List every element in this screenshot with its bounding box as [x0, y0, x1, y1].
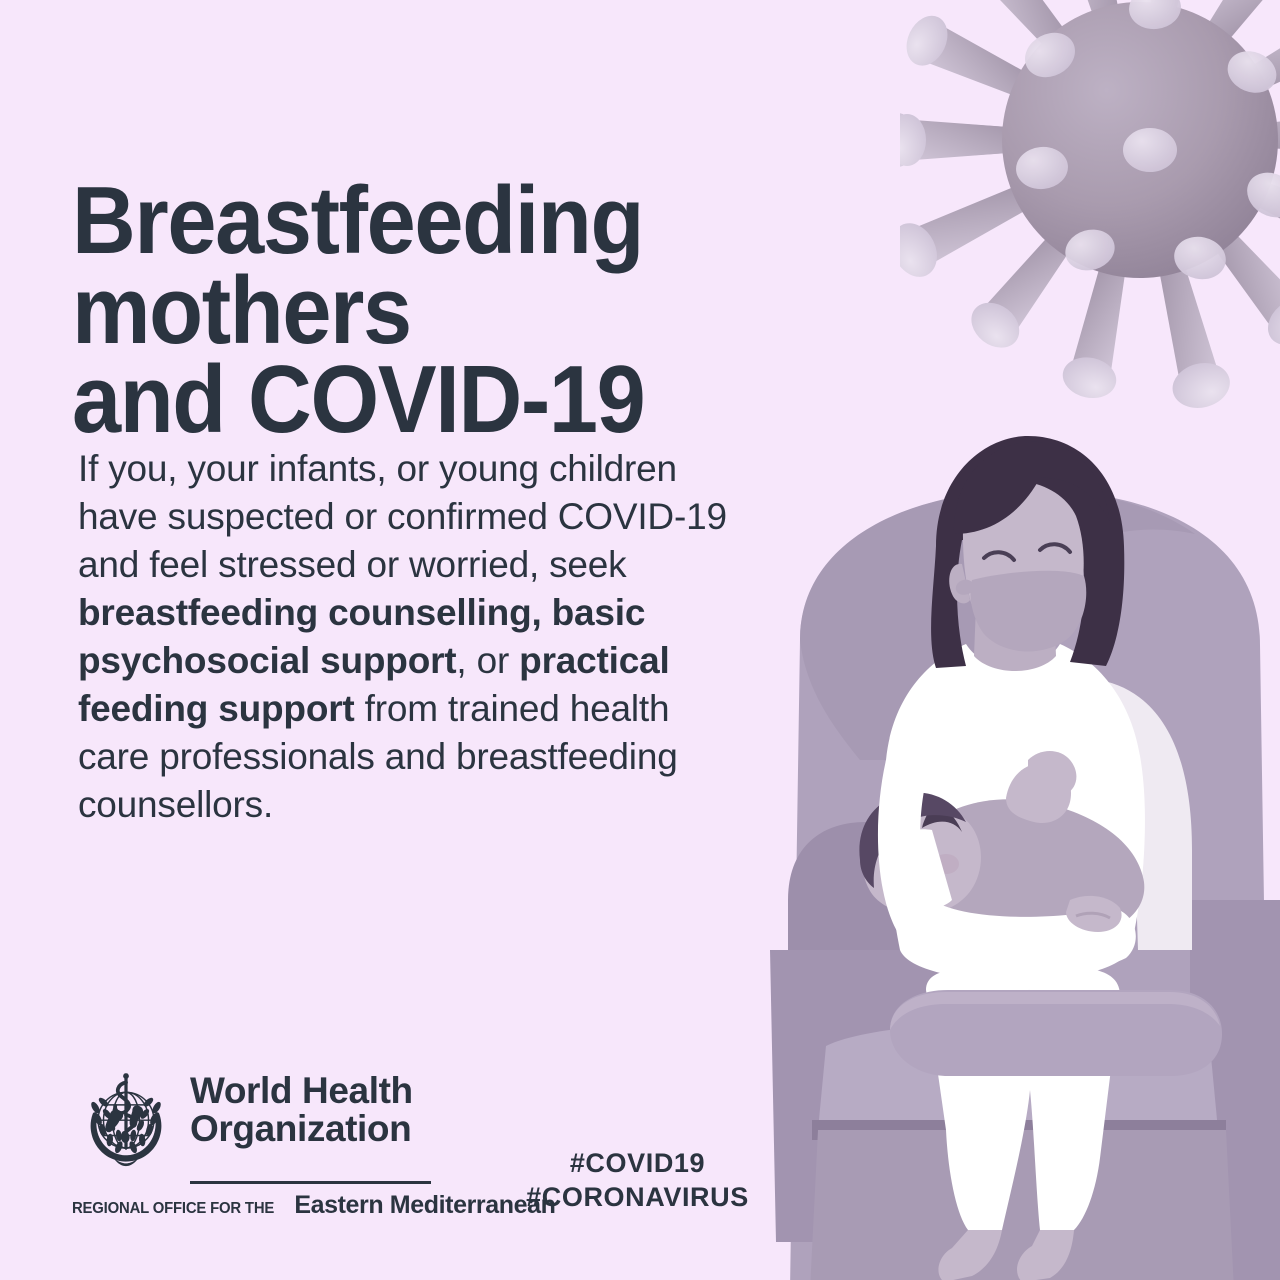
virus-surface-nubs [1014, 0, 1280, 284]
armchair-base [810, 1130, 1234, 1280]
page-title: Breastfeeding mothers and COVID-19 [72, 176, 1001, 444]
baby-hair [859, 792, 966, 888]
body-text-part1: If you, your infants, or young children … [78, 448, 727, 585]
mother-neck [974, 606, 1056, 671]
body-text-mid1: , or [456, 640, 519, 681]
mother-eye-left [984, 552, 1014, 560]
trouser-crease [1028, 990, 1032, 1070]
mask-strap [956, 580, 972, 595]
mother-eye-right [1040, 544, 1070, 552]
baby-arm [1006, 763, 1071, 823]
baby-cheek [933, 854, 959, 874]
armchair-back-shade [800, 490, 1195, 760]
mother-trousers [926, 970, 1120, 1230]
mother-foot-left [938, 1230, 1002, 1280]
who-logo-top: World Health Organization [72, 1068, 432, 1176]
mother-sleeve-lower [890, 829, 952, 908]
armchair-front-arm-highlight [890, 992, 1220, 1030]
poster-canvas: Breastfeeding mothers and COVID-19 If yo… [0, 0, 1280, 1280]
who-wordmark: World Health Organization [190, 1068, 413, 1148]
mother-face [963, 480, 1084, 649]
mother-hair-back [931, 436, 1124, 668]
mother-foot-right [1017, 1230, 1074, 1280]
mother-ear [949, 564, 970, 604]
who-divider [190, 1181, 431, 1184]
armchair-seat [818, 1022, 1218, 1130]
mother-hair-front [954, 442, 1110, 534]
mother-far-arm [1100, 680, 1192, 950]
mother-shirt [884, 644, 1145, 981]
who-wordmark-line1: World Health [190, 1072, 413, 1110]
armchair-right-side [1190, 900, 1280, 1280]
armchair-left-side [770, 950, 946, 1242]
who-emblem-icon [72, 1068, 180, 1176]
baby-hair-tuft [866, 794, 962, 850]
who-logo: World Health Organization REGIONAL OFFIC… [72, 1068, 432, 1220]
armchair-left-arm [788, 822, 950, 990]
mother-hand-fingers [1076, 913, 1110, 918]
virus-body [1002, 2, 1278, 278]
mother-face-mask [971, 571, 1087, 652]
armchair-front-arm [890, 990, 1222, 1076]
body-paragraph: If you, your infants, or young children … [78, 445, 738, 829]
mother-hand [1066, 896, 1122, 932]
mother-cradling-arm [878, 760, 1136, 974]
armchair-seat-shadow [812, 1120, 1226, 1140]
who-region-lockup: REGIONAL OFFICE FOR THE Eastern Mediterr… [72, 1191, 432, 1220]
armchair-back [790, 490, 1270, 1280]
who-region-prefix: REGIONAL OFFICE FOR THE [72, 1200, 274, 1218]
mother-baby-illustration [740, 430, 1280, 1280]
who-wordmark-line2: Organization [190, 1110, 413, 1148]
hashtag-covid19: #COVID19 [495, 1146, 780, 1180]
baby-hand [1028, 751, 1076, 797]
who-region-name: Eastern Mediterranean [294, 1191, 555, 1220]
baby-head [862, 805, 981, 915]
baby-body [918, 799, 1144, 942]
